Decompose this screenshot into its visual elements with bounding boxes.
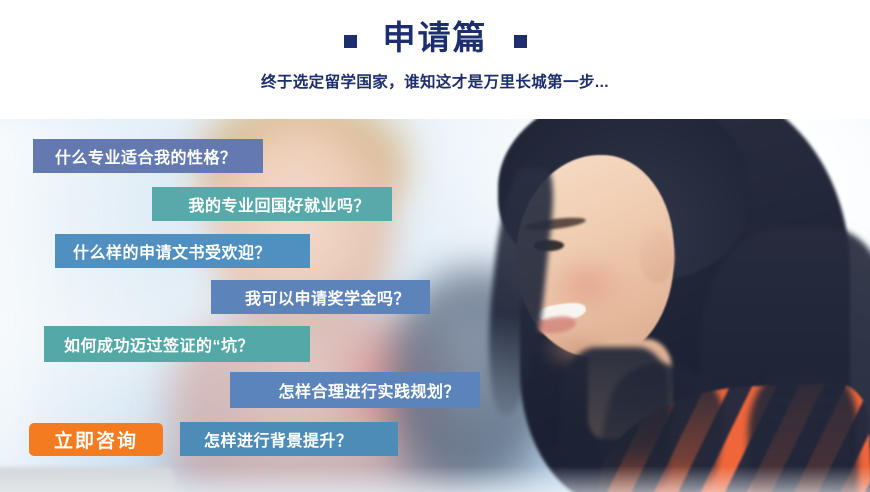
- hero-photo: 什么专业适合我的性格？我的专业回国好就业吗？什么样的申请文书受欢迎？我可以申请奖…: [0, 119, 870, 492]
- question-bubble-label: 我的专业回国好就业吗？: [188, 192, 370, 216]
- question-bubble[interactable]: 什么样的申请文书受欢迎？: [55, 234, 310, 268]
- question-bubble-label: 怎样进行背景提升？: [204, 427, 353, 451]
- question-bubble-label: 什么专业适合我的性格？: [55, 144, 237, 168]
- question-bubble[interactable]: 我的专业回国好就业吗？: [152, 187, 392, 221]
- question-bubble[interactable]: 怎样合理进行实践规划？: [230, 372, 480, 408]
- question-bubble[interactable]: 什么专业适合我的性格？: [33, 139, 263, 173]
- question-bubble-label: 怎样合理进行实践规划？: [278, 378, 460, 402]
- promo-banner: 申请篇 终于选定留学国家，谁知这才是万里长城第一步...: [0, 0, 870, 492]
- question-bubble-label: 什么样的申请文书受欢迎？: [73, 239, 271, 263]
- banner-header: 申请篇 终于选定留学国家，谁知这才是万里长城第一步...: [0, 0, 870, 119]
- consult-now-button[interactable]: 立即咨询: [29, 423, 163, 456]
- question-bubble[interactable]: 如何成功迈过签证的“坑？: [44, 326, 310, 362]
- title-row: 申请篇: [0, 18, 870, 58]
- square-bullet-left-icon: [344, 35, 357, 48]
- question-bubble[interactable]: 怎样进行背景提升？: [180, 422, 398, 456]
- question-bubble-label: 如何成功迈过签证的“坑？: [64, 332, 254, 356]
- question-bubble-label: 我可以申请奖学金吗？: [245, 285, 410, 309]
- page-title: 申请篇: [383, 18, 488, 58]
- page-subtitle: 终于选定留学国家，谁知这才是万里长城第一步...: [0, 70, 870, 92]
- photo-bottom-fade: [0, 466, 870, 492]
- square-bullet-right-icon: [514, 35, 527, 48]
- subject-ear: [640, 229, 674, 283]
- question-bubble[interactable]: 我可以申请奖学金吗？: [211, 280, 430, 314]
